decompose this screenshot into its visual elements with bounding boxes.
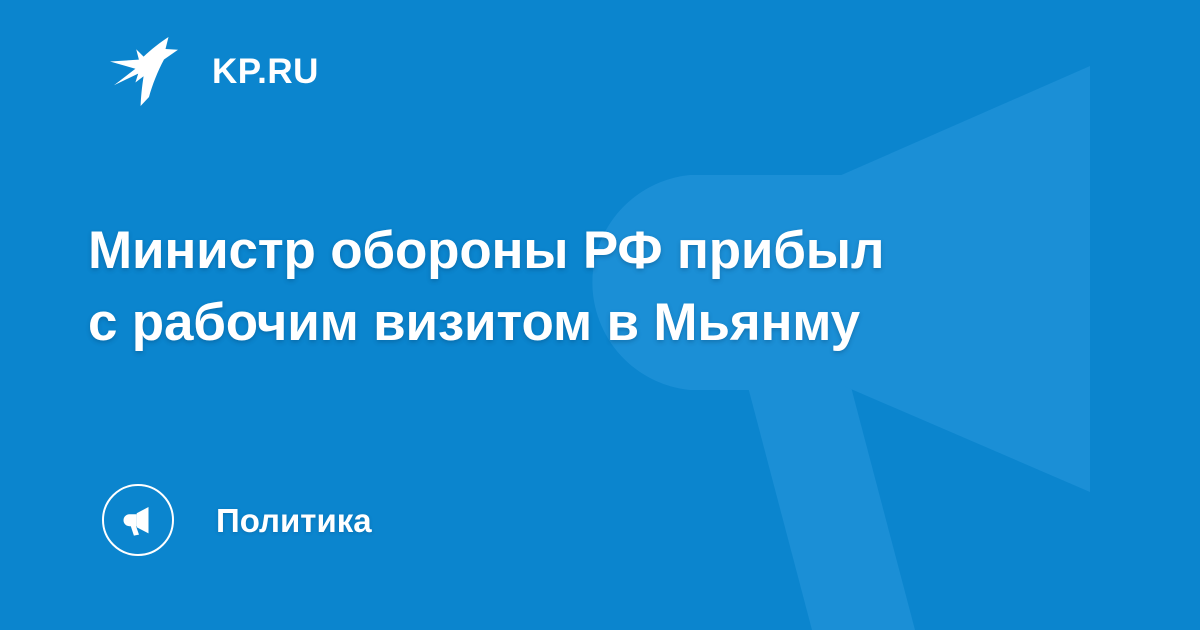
- brand-logo[interactable]: KP.RU: [108, 36, 319, 106]
- megaphone-icon-circle: [102, 484, 174, 556]
- category-badge[interactable]: Политика: [102, 484, 372, 556]
- swallow-bird-logo-icon: [108, 35, 182, 107]
- megaphone-icon: [118, 500, 158, 540]
- page-title-line-1: Министр обороны РФ прибыл: [88, 215, 1028, 287]
- category-label: Политика: [216, 504, 372, 537]
- page-title: Министр обороны РФ прибыл с рабочим визи…: [88, 215, 1028, 359]
- page-title-line-2: с рабочим визитом в Мьянму: [88, 287, 1028, 359]
- share-card: KP.RU Министр обороны РФ прибыл с рабочи…: [0, 0, 1200, 630]
- brand-name: KP.RU: [212, 54, 319, 89]
